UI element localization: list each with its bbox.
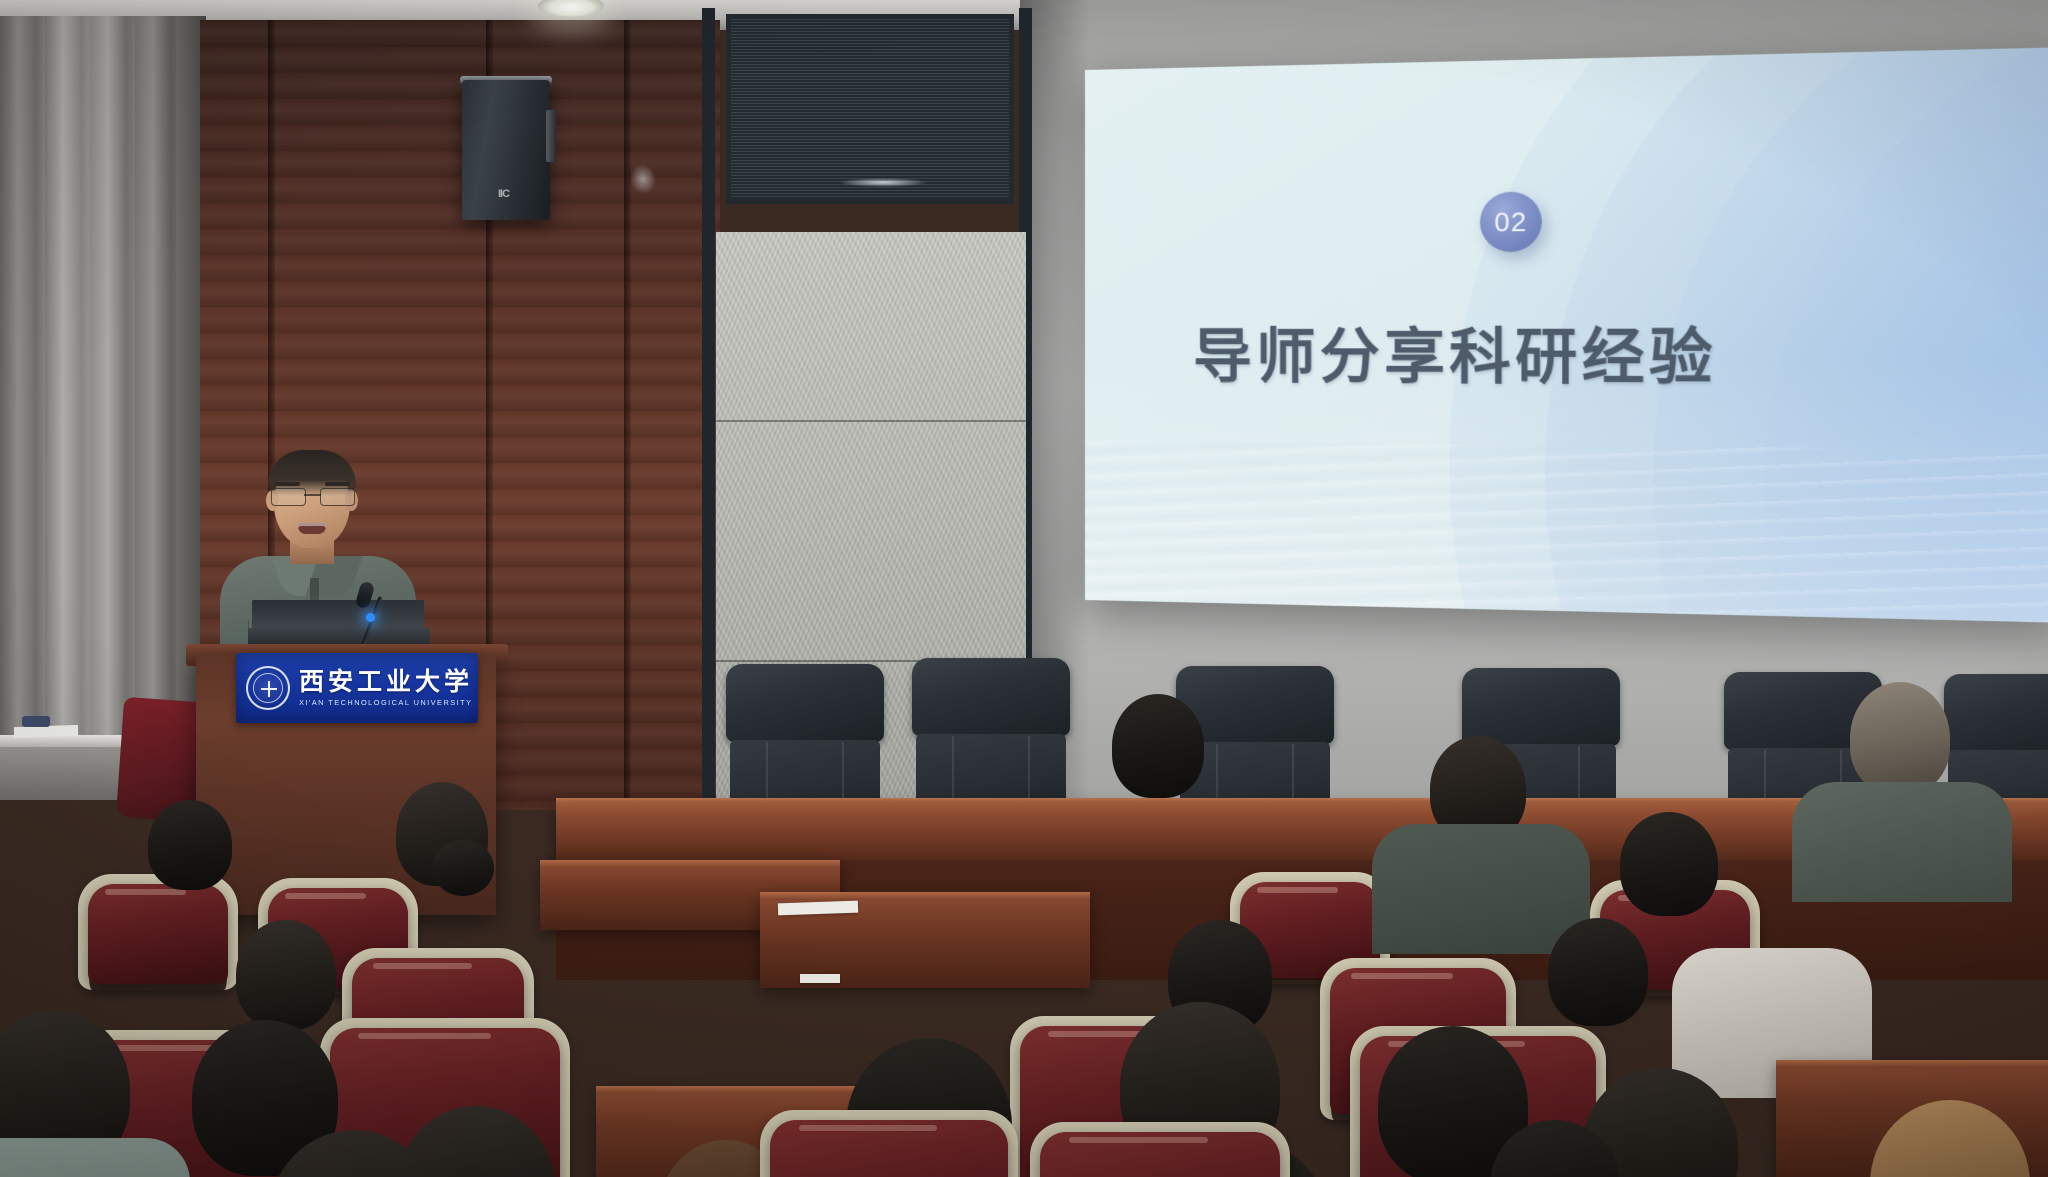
- projection-screen: 02 导师分享科研经验: [1085, 47, 2048, 623]
- list-item: [88, 884, 228, 984]
- audience-area: [0, 720, 2048, 1177]
- attendee-head: [1112, 694, 1204, 798]
- attendee-head: [148, 800, 232, 890]
- microphone-led-indicator: [366, 613, 375, 622]
- slide-section-badge: 02: [1480, 191, 1542, 252]
- seat-highlight: [285, 893, 366, 899]
- podium-sign-text: 西安工业大学 XI'AN TECHNOLOGICAL UNIVERSITY: [299, 669, 473, 707]
- presenter-eyebrow-right: [325, 482, 350, 486]
- presenter-mouth: [298, 523, 326, 534]
- speaker-mount-bracket: [546, 110, 556, 162]
- presenter-eyebrow-left: [275, 482, 300, 486]
- attendee-shoulders: [0, 1138, 190, 1177]
- window-curtain: [0, 16, 200, 756]
- seat-highlight: [1069, 1137, 1208, 1143]
- list-item: [770, 1120, 1008, 1177]
- speaker-brand-logo: IIC: [498, 188, 509, 200]
- attendee-shoulders: [1792, 782, 2012, 902]
- av-booth-louver-window-icon: [726, 14, 1014, 204]
- slide-ripple-texture: [1085, 441, 2048, 623]
- slide-title: 导师分享科研经验: [1193, 307, 1788, 396]
- attendee-head: [1620, 812, 1718, 916]
- seat-highlight: [1351, 973, 1453, 979]
- university-name-en: XI'AN TECHNOLOGICAL UNIVERSITY: [299, 698, 473, 707]
- seat-highlight: [799, 1125, 937, 1131]
- university-name-cn: 西安工业大学: [299, 669, 473, 695]
- attendee-head: [1850, 682, 1950, 794]
- podium-university-sign: 西安工业大学 XI'AN TECHNOLOGICAL UNIVERSITY: [236, 653, 478, 723]
- seat-highlight: [1257, 887, 1338, 893]
- slide-surface: 02 导师分享科研经验: [1085, 47, 2048, 623]
- lecture-hall-scene: IIC 02 导师分享科研经验: [0, 0, 2048, 1177]
- seat-highlight: [358, 1033, 491, 1039]
- seat-cushion: [88, 884, 228, 984]
- attendee-shoulders: [1372, 824, 1590, 954]
- paper-on-desk: [800, 974, 840, 983]
- eyeglasses-icon: [270, 488, 356, 505]
- slide-badge-number: 02: [1494, 206, 1527, 238]
- eyeglasses-bridge: [304, 494, 321, 496]
- university-seal-emblem-icon: [246, 666, 290, 710]
- stone-joint-line: [716, 420, 1026, 422]
- attendee-head: [236, 920, 336, 1030]
- wood-panel-seam: [624, 20, 631, 810]
- desk-lip: [540, 860, 840, 868]
- seat-highlight: [373, 963, 473, 969]
- attendee-head: [1548, 918, 1648, 1026]
- desk-lip: [760, 892, 1090, 900]
- desk-lip: [596, 1086, 886, 1094]
- attendee-hair-bun: [432, 840, 494, 896]
- grille-reflection: [838, 178, 928, 187]
- list-item: [1040, 1132, 1280, 1177]
- seat-highlight: [105, 889, 186, 895]
- desk-lip: [1776, 1060, 2048, 1068]
